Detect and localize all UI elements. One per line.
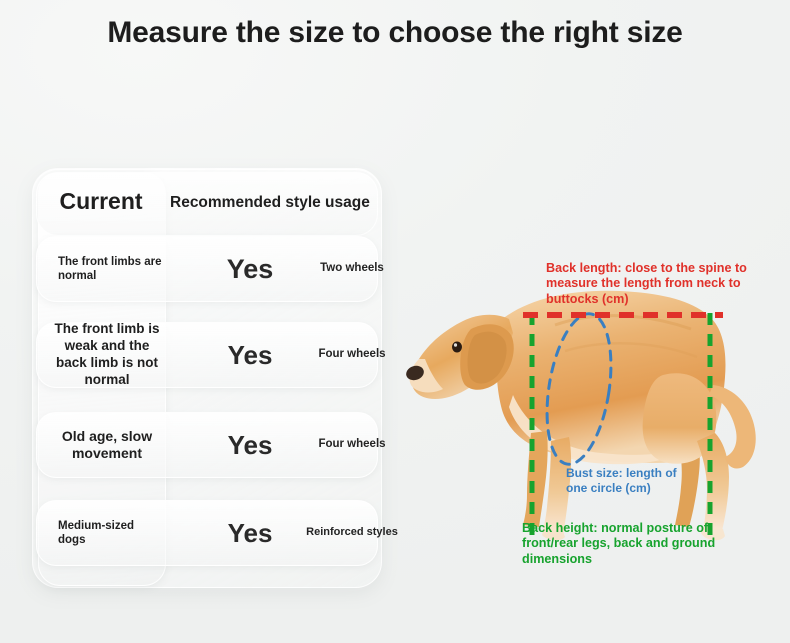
row-answer: Yes [195, 413, 305, 477]
annotation-bust-size: Bust size: length of one circle (cm) [566, 466, 696, 495]
table-header-condition: Current [47, 188, 155, 215]
row-style: Two wheels [299, 237, 405, 301]
dog-front-leg-far [523, 431, 548, 527]
row-condition: The front limbs are normal [48, 237, 166, 301]
annotation-back-length: Back length: close to the spine to measu… [546, 261, 778, 307]
table-row: The front limbs are normal Yes Two wheel… [36, 236, 378, 302]
table-row: Old age, slow movement Yes Four wheels [36, 412, 378, 478]
row-style: Four wheels [299, 323, 405, 387]
row-answer: Yes [195, 237, 305, 301]
row-condition: Medium-sized dogs [48, 501, 166, 565]
dog-eye [452, 342, 462, 353]
table-header-recommendation: Recommended style usage [170, 194, 394, 212]
dog-hind-leg-near [697, 433, 729, 535]
table-row: The front limb is weak and the back limb… [36, 322, 378, 388]
row-answer: Yes [195, 323, 305, 387]
page-title: Measure the size to choose the right siz… [0, 16, 790, 50]
row-style: Reinforced styles [299, 501, 405, 565]
row-answer: Yes [195, 501, 305, 565]
row-style: Four wheels [299, 413, 405, 477]
annotation-back-height: Back height: normal posture of front/rea… [522, 521, 762, 567]
infographic-root: Measure the size to choose the right siz… [0, 0, 790, 643]
table-row: Medium-sized dogs Yes Reinforced styles [36, 500, 378, 566]
row-condition: Old age, slow movement [48, 413, 166, 477]
dog-eye-highlight [454, 343, 457, 347]
row-condition: The front limb is weak and the back limb… [48, 323, 166, 387]
